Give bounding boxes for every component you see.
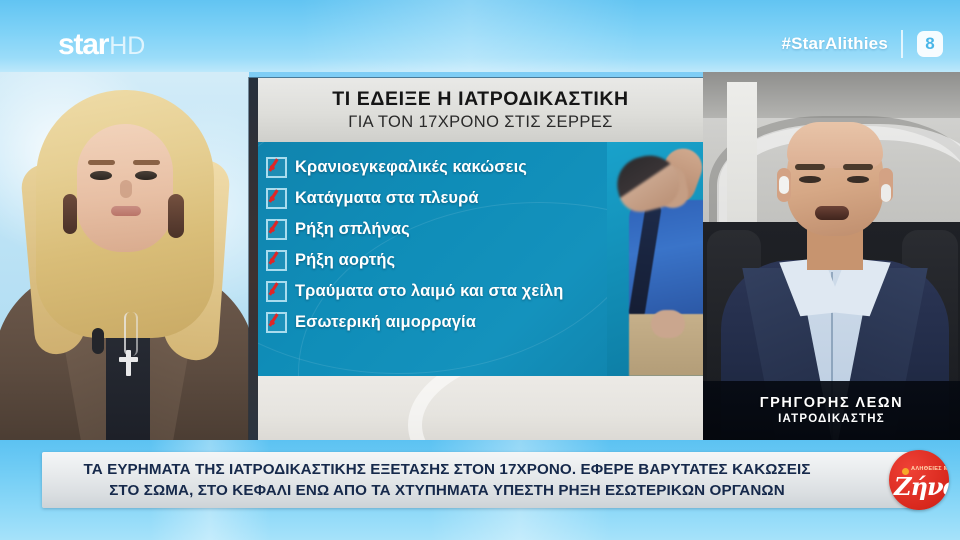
checkbox-checked-icon — [266, 219, 287, 240]
finding-label: Κατάγματα στα πλευρά — [295, 189, 479, 208]
channel-top-bar: star HD #StarAlithies 8 — [0, 0, 960, 72]
finding-label: Ρήξη σπλήνας — [295, 220, 410, 239]
earbud-icon-right — [881, 184, 891, 202]
guest-lower-third: ΓΡΗΓΟΡΗΣ ΛΕΩΝ ΙΑΤΡΟΔΙΚΑΣΤΗΣ — [703, 381, 960, 440]
guest-brow-left — [795, 164, 825, 170]
finding-label: Τραύματα στο λαιμό και στα χείλη — [295, 282, 563, 301]
list-item: Κρανιοεγκεφαλικές κακώσεις — [266, 152, 686, 183]
panel-footer — [258, 376, 703, 440]
list-item: Κατάγματα στα πλευρά — [266, 183, 686, 214]
star-hd-logo: star HD — [58, 30, 145, 60]
presenter-earring-left — [63, 194, 77, 234]
presenter-cross-pendant — [126, 350, 131, 376]
checkbox-checked-icon — [266, 188, 287, 209]
presenter-camera-feed — [0, 72, 249, 440]
finding-label: Ρήξη αορτής — [295, 251, 395, 270]
panel-header: ΤΙ ΕΔΕΙΞΕ Η ΙΑΤΡΟΔΙΚΑΣΤΙΚΗ ΓΙΑ ΤΟΝ 17ΧΡΟ… — [258, 78, 703, 142]
checkbox-checked-icon — [266, 250, 287, 271]
guest-eye-right — [847, 176, 869, 183]
panel-body: Κρανιοεγκεφαλικές κακώσεις Κατάγματα στα… — [258, 142, 703, 376]
broadcast-screen: star HD #StarAlithies 8 — [0, 0, 960, 540]
logo-wordmark: Ζήνα — [894, 472, 949, 501]
findings-list: Κρανιοεγκεφαλικές κακώσεις Κατάγματα στα… — [266, 152, 686, 338]
list-item: Ρήξη αορτής — [266, 245, 686, 276]
guest-bald-head — [787, 122, 883, 168]
forensic-findings-panel: ΤΙ ΕΔΕΙΞΕ Η ΙΑΤΡΟΔΙΚΑΣΤΙΚΗ ΓΙΑ ΤΟΝ 17ΧΡΟ… — [249, 78, 703, 440]
bottom-bar: ΤΑ ΕΥΡΗΜΑΤΑ ΤΗΣ ΙΑΤΡΟΔΙΚΑΣΤΙΚΗΣ ΕΞΕΤΑΣΗΣ… — [0, 440, 960, 540]
presenter-earring-right — [168, 194, 184, 238]
list-item: Εσωτερική αιμορραγία — [266, 307, 686, 338]
panel-subtitle: ΓΙΑ ΤΟΝ 17ΧΡΟΝΟ ΣΤΙΣ ΣΕΡΡΕΣ — [348, 113, 613, 131]
finding-label: Κρανιοεγκεφαλικές κακώσεις — [295, 158, 527, 177]
channel-number-badge: 8 — [917, 31, 943, 57]
presenter-cross-pendant-bar — [119, 357, 138, 362]
checkbox-checked-icon — [266, 281, 287, 302]
show-hashtag: #StarAlithies — [781, 34, 888, 54]
list-item: Τραύματα στο λαιμό και στα χείλη — [266, 276, 686, 307]
star-logo-text: star — [58, 30, 108, 60]
guest-brow-right — [843, 164, 873, 170]
list-item: Ρήξη σπλήνας — [266, 214, 686, 245]
ticker-line-2: ΣΤΟ ΣΩΜΑ, ΣΤΟ ΚΕΦΑΛΙ ΕΝΩ ΑΠΟ ΤΑ ΧΤΥΠΗΜΑΤ… — [52, 482, 842, 499]
presenter-brow-left — [88, 160, 115, 165]
guest-name: ΓΡΗΓΟΡΗΣ ΛΕΩΝ — [760, 395, 903, 412]
checkbox-checked-icon — [266, 312, 287, 333]
hashtag-divider — [901, 30, 903, 58]
panel-left-edge — [249, 78, 258, 440]
show-logo-zina: ΑΛΗΘΕΙΕΣ ΜΕ ΤΗ Ζήνα — [889, 450, 949, 510]
guest-mouth — [815, 206, 849, 220]
presenter-lapel-microphone — [92, 328, 104, 354]
panel-footer-arc — [408, 376, 703, 440]
guest-eye-left — [799, 176, 821, 183]
hd-logo-text: HD — [109, 34, 145, 59]
ticker-line-1: ΤΑ ΕΥΡΗΜΑΤΑ ΤΗΣ ΙΑΤΡΟΔΙΚΑΣΤΙΚΗΣ ΕΞΕΤΑΣΗΣ… — [52, 461, 842, 478]
presenter-lips — [111, 206, 141, 216]
presenter-nose — [120, 180, 132, 198]
top-bar-light-sheen — [300, 0, 640, 72]
presenter-brow-right — [133, 160, 160, 165]
checkbox-checked-icon — [266, 157, 287, 178]
finding-label: Εσωτερική αιμορραγία — [295, 313, 476, 332]
presenter-eye-right — [135, 171, 157, 180]
presenter-eye-left — [90, 171, 112, 180]
video-body-area: ΤΙ ΕΔΕΙΞΕ Η ΙΑΤΡΟΔΙΚΑΣΤΙΚΗ ΓΙΑ ΤΟΝ 17ΧΡΟ… — [0, 72, 960, 440]
panel-title: ΤΙ ΕΔΕΙΞΕ Η ΙΑΤΡΟΔΙΚΑΣΤΙΚΗ — [332, 89, 629, 110]
guest-role: ΙΑΤΡΟΔΙΚΑΣΤΗΣ — [778, 413, 885, 426]
earbud-icon-left — [779, 176, 789, 194]
news-ticker: ΤΑ ΕΥΡΗΜΑΤΑ ΤΗΣ ΙΑΤΡΟΔΙΚΑΣΤΙΚΗΣ ΕΞΕΤΑΣΗΣ… — [42, 452, 918, 508]
